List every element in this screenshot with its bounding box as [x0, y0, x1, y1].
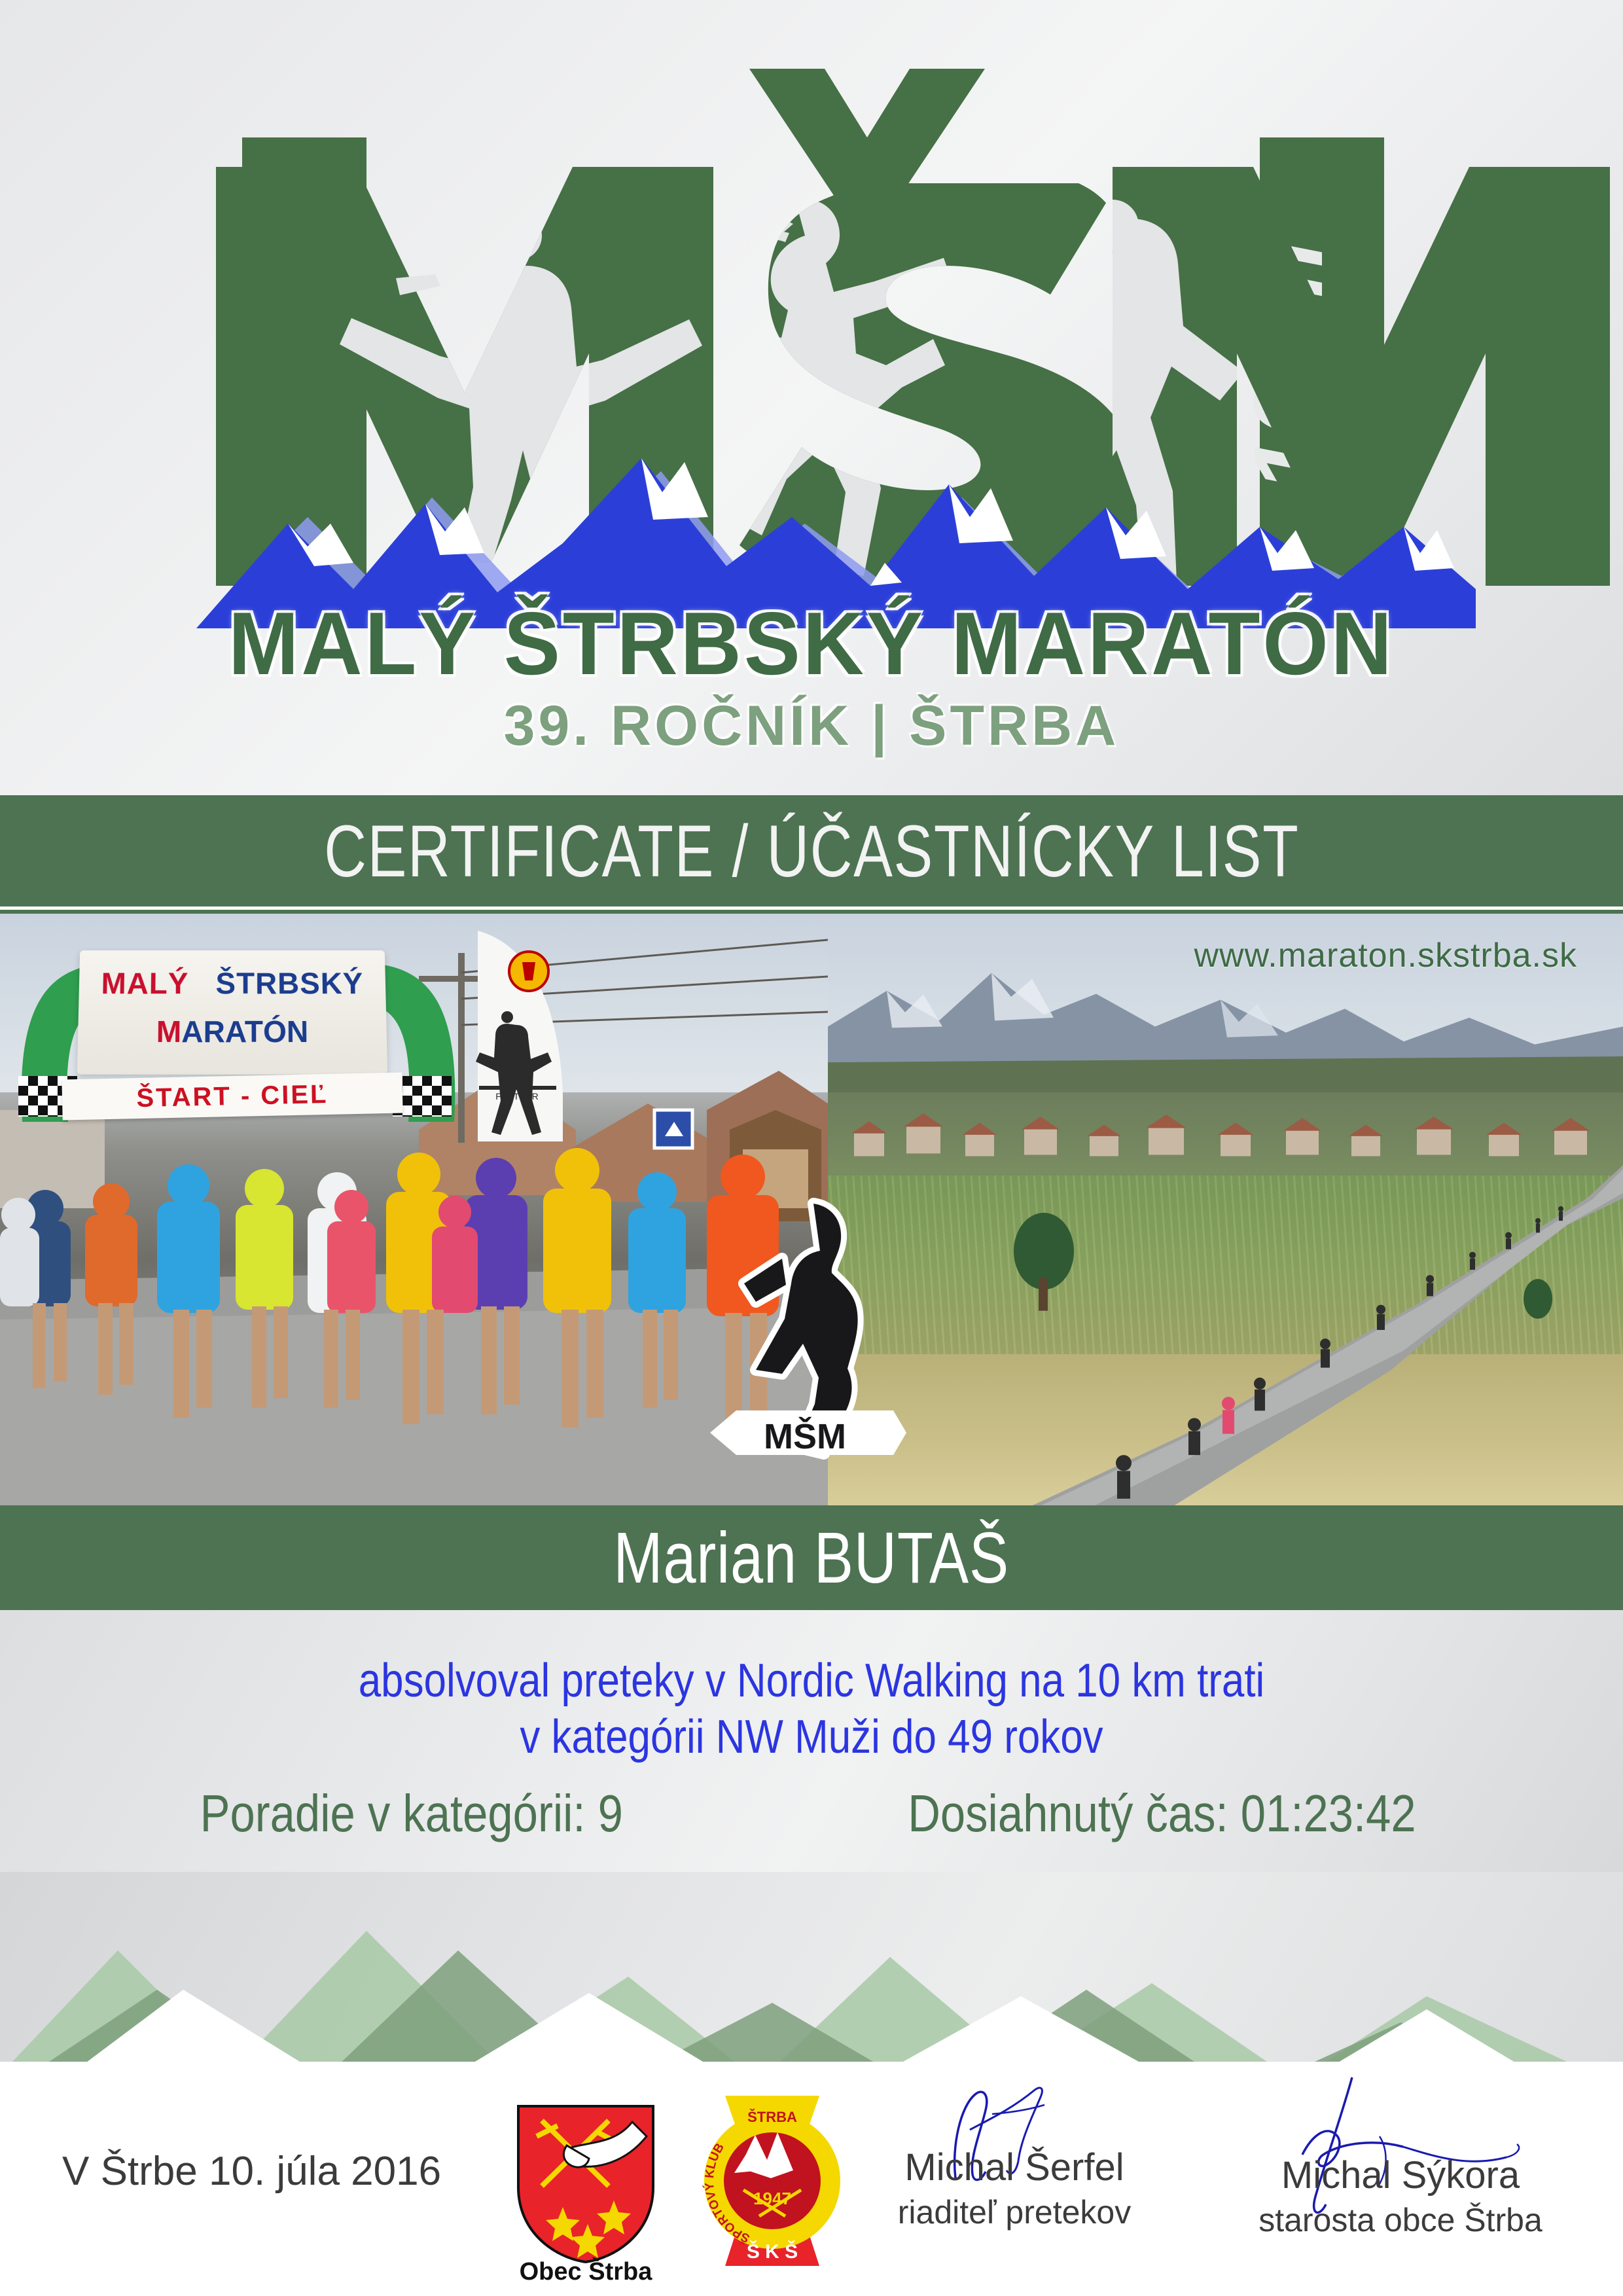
arch-banner-m: M — [156, 1014, 182, 1049]
obec-strba-crest — [510, 2102, 661, 2266]
category-rank: Poradie v kategórii: 9 — [200, 1784, 622, 1844]
svg-text:TATRY: TATRY — [502, 1073, 533, 1084]
finish-time: Dosiahnutý čas: 01:23:42 — [908, 1784, 1416, 1844]
achievement-line-1: absolvoval preteky v Nordic Walking na 1… — [114, 1653, 1510, 1709]
participant-name-text: Marian BUTAŠ — [614, 1516, 1010, 1600]
director-name: Michal Šerfel — [844, 2145, 1185, 2189]
director-role: riaditeľ pretekov — [844, 2193, 1185, 2231]
club-year: 1947 — [753, 2189, 791, 2208]
arch-banner-maly: MALÝ — [101, 967, 188, 1000]
race-road — [828, 1152, 1623, 1509]
website-url: www.maraton.skstrba.sk — [1194, 936, 1578, 975]
achievement-text: absolvoval preteky v Nordic Walking na 1… — [0, 1653, 1623, 1765]
participant-name-band: Marian BUTAŠ — [0, 1505, 1623, 1610]
feather-flag: TATRY PARTNER — [452, 925, 582, 1141]
svg-text:PARTNER: PARTNER — [495, 1091, 539, 1102]
logo-header: 31km 10km — [0, 0, 1623, 795]
club-bottom-text: Š K Š — [747, 2240, 798, 2263]
event-subtitle-text: 39. ROČNÍK | ŠTRBA — [504, 694, 1120, 759]
certificate-footer: V Štrbe 10. júla 2016 Obec Štrba — [0, 2062, 1623, 2296]
start-finish-banner: ŠTART - CIEĽ — [62, 1073, 402, 1121]
arch-banner-strbsky: ŠTRBSKÝ — [215, 967, 363, 1000]
msm-emblem-wordmark: MŠM — [710, 1410, 906, 1456]
event-title-text: MALÝ ŠTRBSKÝ MARATÓN — [228, 592, 1395, 694]
event-subtitle: 39. ROČNÍK | ŠTRBA — [0, 694, 1623, 759]
certificate-page: 31km 10km — [0, 0, 1623, 2296]
arch-banner: MALÝ ŠTRBSKÝ MARATÓN — [77, 950, 387, 1075]
club-top-text: ŠTRBA — [747, 2109, 797, 2125]
photo-strip: MALÝ ŠTRBSKÝ MARATÓN ŠTART - CIEĽ — [0, 910, 1623, 1513]
landscape-photo: www.maraton.skstrba.sk — [828, 914, 1623, 1509]
results-row: Poradie v kategórii: 9 Dosiahnutý čas: 0… — [0, 1784, 1623, 1844]
certificate-body: absolvoval preteky v Nordic Walking na 1… — [0, 1610, 1623, 1905]
municipality-caption: Obec Štrba — [497, 2258, 674, 2286]
certificate-title-text: CERTIFICATE / ÚČASTNÍCKY LIST — [324, 809, 1299, 893]
mayor-name: Michal Sýkora — [1217, 2153, 1584, 2197]
signature-block-mayor: Michal Sýkora starosta obce Štrba — [1217, 2153, 1584, 2239]
mayor-role: starosta obce Štrba — [1217, 2201, 1584, 2239]
achievement-line-2: v kategórii NW Muži do 49 rokov — [114, 1709, 1510, 1765]
signature-block-director: Michal Šerfel riaditeľ pretekov — [844, 2145, 1185, 2231]
event-title: MALÝ ŠTRBSKÝ MARATÓN — [0, 592, 1623, 694]
msm-emblem-text: MŠM — [764, 1416, 846, 1456]
place-and-date: V Štrbe 10. júla 2016 — [62, 2148, 441, 2195]
msm-runner-emblem: MŠM — [704, 1185, 906, 1460]
certificate-title-band: CERTIFICATE / ÚČASTNÍCKY LIST — [0, 795, 1623, 906]
arch-banner-araton: ARATÓN — [181, 1014, 308, 1049]
sks-strba-logo: 1947 ŠTRBA Š K Š ŠPORTOVÝ KLUB — [694, 2094, 851, 2268]
